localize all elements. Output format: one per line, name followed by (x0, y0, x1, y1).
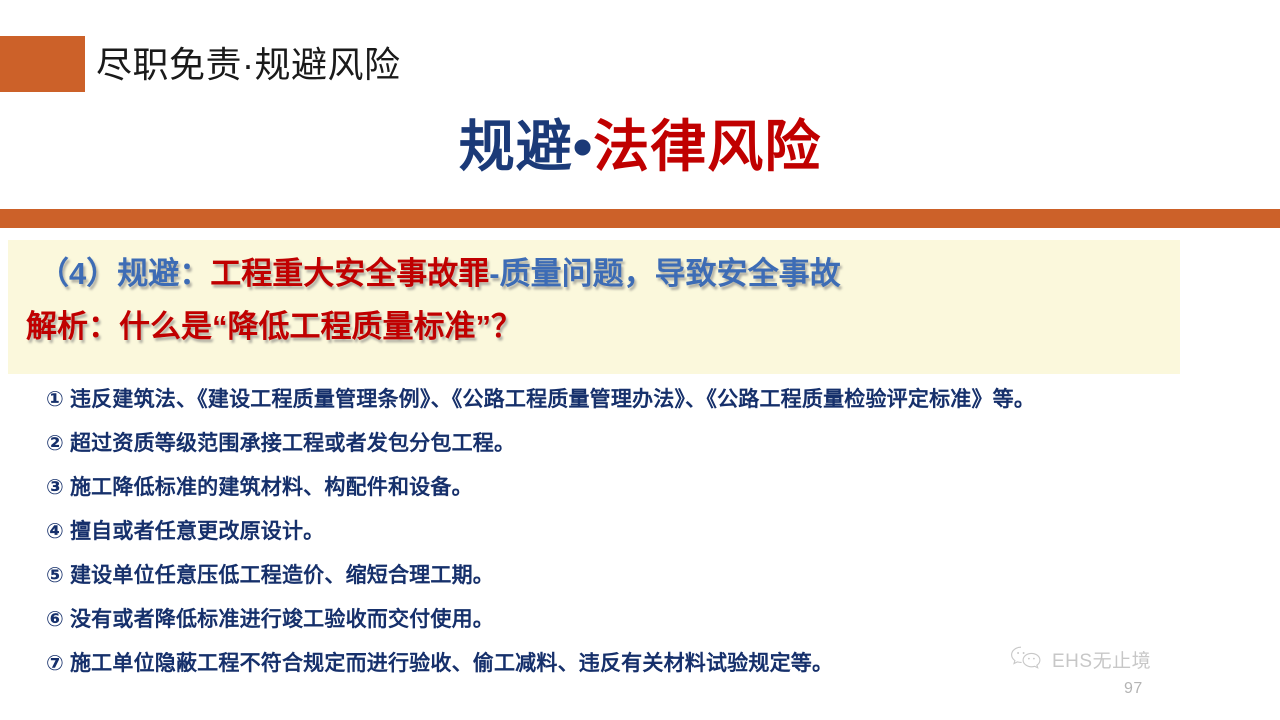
page-title-part1: 规避 (459, 115, 573, 178)
list-item-text: 违反建筑法、《建设工程质量管理条例》、《公路工程质量管理办法》、《公路工程质量检… (70, 388, 1035, 411)
list-item-text: 施工单位隐蔽工程不符合规定而进行验收、偷工减料、违反有关材料试验规定等。 (70, 652, 833, 675)
list-item-number: ⑦ (46, 642, 64, 686)
page-number: 97 (1124, 680, 1143, 698)
page-title-part2: 法律风险 (593, 115, 821, 178)
list-item: ②超过资质等级范围承接工程或者发包分包工程。 (46, 422, 1256, 466)
list-item-number: ④ (46, 510, 64, 554)
list-item: ①违反建筑法、《建设工程质量管理条例》、《公路工程质量管理办法》、《公路工程质量… (46, 378, 1256, 422)
highlight-line-1-segment-1: （4）规避： (38, 256, 210, 291)
list-item-number: ⑥ (46, 598, 64, 642)
slide-canvas: 尽职免责·规避风险 规避•法律风险 （4）规避：工程重大安全事故罪-质量问题，导… (0, 0, 1280, 720)
list-item: ⑤建设单位任意压低工程造价、缩短合理工期。 (46, 554, 1256, 598)
list-item-number: ⑤ (46, 554, 64, 598)
list-item-text: 擅自或者任意更改原设计。 (70, 520, 324, 543)
divider-bar (0, 209, 1280, 228)
list-item: ⑥没有或者降低标准进行竣工验收而交付使用。 (46, 598, 1256, 642)
list-item: ④擅自或者任意更改原设计。 (46, 510, 1256, 554)
highlight-line-1-segment-3: -质量问题，导致安全事故 (489, 256, 840, 291)
list-item-text: 超过资质等级范围承接工程或者发包分包工程。 (70, 432, 515, 455)
header-accent-block (0, 36, 85, 92)
header-title: 尽职免责·规避风险 (96, 40, 401, 90)
page-title: 规避•法律风险 (0, 110, 1280, 184)
list-item: ③施工降低标准的建筑材料、构配件和设备。 (46, 466, 1256, 510)
list-item-number: ② (46, 422, 64, 466)
watermark-label: EHS无止境 (1052, 646, 1151, 673)
list-item-text: 建设单位任意压低工程造价、缩短合理工期。 (70, 564, 494, 587)
watermark: EHS无止境 (1010, 645, 1151, 673)
numbered-list: ①违反建筑法、《建设工程质量管理条例》、《公路工程质量管理办法》、《公路工程质量… (46, 378, 1256, 686)
list-item-number: ③ (46, 466, 64, 510)
page-title-separator: • (573, 115, 594, 178)
highlight-line-1-segment-2: 工程重大安全事故罪 (210, 256, 489, 291)
list-item-text: 施工降低标准的建筑材料、构配件和设备。 (70, 476, 473, 499)
list-item-text: 没有或者降低标准进行竣工验收而交付使用。 (70, 608, 494, 631)
highlight-line-1: （4）规避：工程重大安全事故罪-质量问题，导致安全事故 (38, 252, 841, 296)
list-item-number: ① (46, 378, 64, 422)
highlight-line-2: 解析：什么是“降低工程质量标准”？ (26, 305, 522, 349)
wechat-icon (1010, 645, 1044, 673)
